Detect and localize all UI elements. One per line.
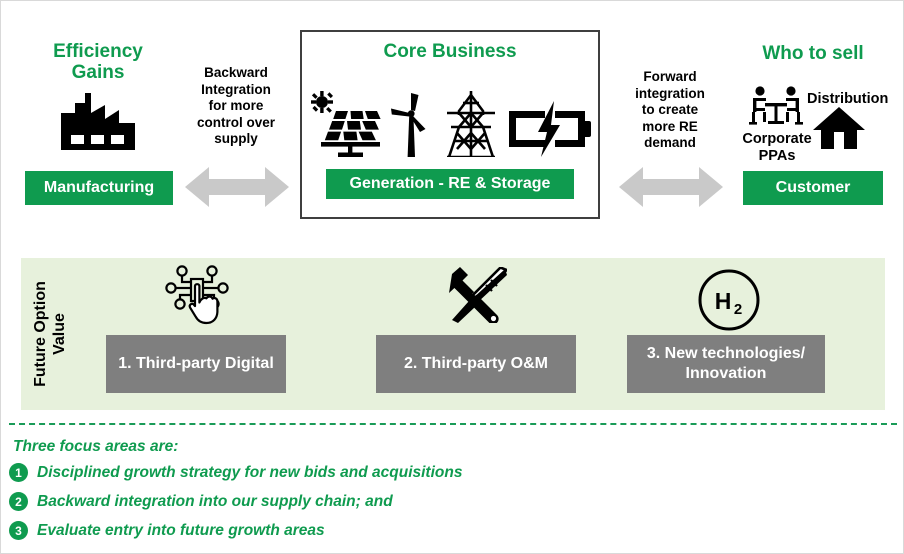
factory-icon: [57, 93, 139, 151]
forward-integration-note: Forward integration to create more RE de…: [615, 69, 725, 152]
corporate-ppas-line2: PPAs: [741, 148, 813, 165]
digital-touch-icon: [163, 264, 231, 326]
forward-note-line2: integration: [615, 86, 725, 103]
corporate-ppas-line1: Corporate: [741, 131, 813, 148]
option-1-label: 1. Third-party Digital: [118, 354, 274, 374]
forward-note-line4: more RE: [615, 119, 725, 136]
generation-bar[interactable]: Generation - RE & Storage: [326, 169, 574, 199]
svg-text:H: H: [715, 288, 732, 314]
customer-bar[interactable]: Customer: [743, 171, 883, 205]
svg-text:2: 2: [734, 301, 742, 318]
future-option-value-label: Future Option Value: [27, 259, 73, 409]
core-business-title: Core Business: [300, 41, 600, 62]
slide-canvas: Efficiency Gains Manufacturing Backward …: [0, 0, 904, 554]
house-icon: [813, 107, 865, 149]
battery-charge-icon: [507, 101, 591, 157]
focus-text-3: Evaluate entry into future growth areas: [37, 522, 325, 540]
manufacturing-bar[interactable]: Manufacturing: [25, 171, 173, 205]
who-to-sell-title: Who to sell: [735, 43, 891, 64]
forward-note-line3: to create: [615, 102, 725, 119]
corporate-ppas-label: Corporate PPAs: [741, 131, 813, 165]
manufacturing-label: Manufacturing: [44, 179, 154, 197]
option-box-third-party-digital[interactable]: 1. Third-party Digital: [106, 335, 286, 393]
backward-note-line1: Backward: [181, 65, 291, 82]
people-meeting-icon: [747, 86, 805, 134]
focus-number-badge-2: 2: [9, 492, 28, 511]
efficiency-gains-title-line2: Gains: [25, 62, 171, 83]
backward-note-line2: Integration: [181, 82, 291, 99]
backward-integration-note: Backward Integration for more control ov…: [181, 65, 291, 148]
focus-text-1: Disciplined growth strategy for new bids…: [37, 464, 462, 482]
backward-note-line4: control over: [181, 115, 291, 132]
backward-note-line5: supply: [181, 131, 291, 148]
efficiency-gains-title-line1: Efficiency: [25, 41, 171, 62]
distribution-label: Distribution: [807, 91, 888, 107]
focus-text-2: Backward integration into our supply cha…: [37, 493, 393, 511]
hydrogen-h2-icon: H 2: [696, 269, 762, 331]
option-3-label: 3. New technologies/ Innovation: [647, 344, 805, 384]
forward-note-line1: Forward: [615, 69, 725, 86]
wind-turbine-icon: [387, 89, 435, 157]
fov-label-line1: Future Option: [32, 281, 49, 387]
option-3-label-line2: Innovation: [686, 365, 767, 382]
backward-double-arrow-icon: [185, 165, 289, 209]
focus-number-badge-1: 1: [9, 463, 28, 482]
efficiency-gains-title: Efficiency Gains: [25, 41, 171, 83]
transmission-tower-icon: [441, 89, 501, 157]
option-2-label: 2. Third-party O&M: [404, 354, 548, 374]
wrench-screwdriver-icon: [449, 267, 507, 323]
generation-label: Generation - RE & Storage: [350, 175, 551, 193]
focus-area-item-1: 1 Disciplined growth strategy for new bi…: [9, 463, 462, 482]
focus-number-badge-3: 3: [9, 521, 28, 540]
focus-area-item-2: 2 Backward integration into our supply c…: [9, 492, 393, 511]
option-box-third-party-om[interactable]: 2. Third-party O&M: [376, 335, 576, 393]
focus-area-item-3: 3 Evaluate entry into future growth area…: [9, 521, 325, 540]
option-box-new-technologies[interactable]: 3. New technologies/ Innovation: [627, 335, 825, 393]
focus-areas-heading: Three focus areas are:: [13, 438, 178, 456]
backward-note-line3: for more: [181, 98, 291, 115]
solar-panel-icon: [309, 91, 381, 157]
core-business-icon-row: [309, 87, 591, 157]
fov-label-line2: Value: [51, 313, 68, 355]
forward-double-arrow-icon: [619, 165, 723, 209]
customer-label: Customer: [776, 179, 851, 197]
option-3-label-line1: 3. New technologies/: [647, 345, 805, 362]
dashed-divider: [9, 423, 897, 425]
forward-note-line5: demand: [615, 135, 725, 152]
